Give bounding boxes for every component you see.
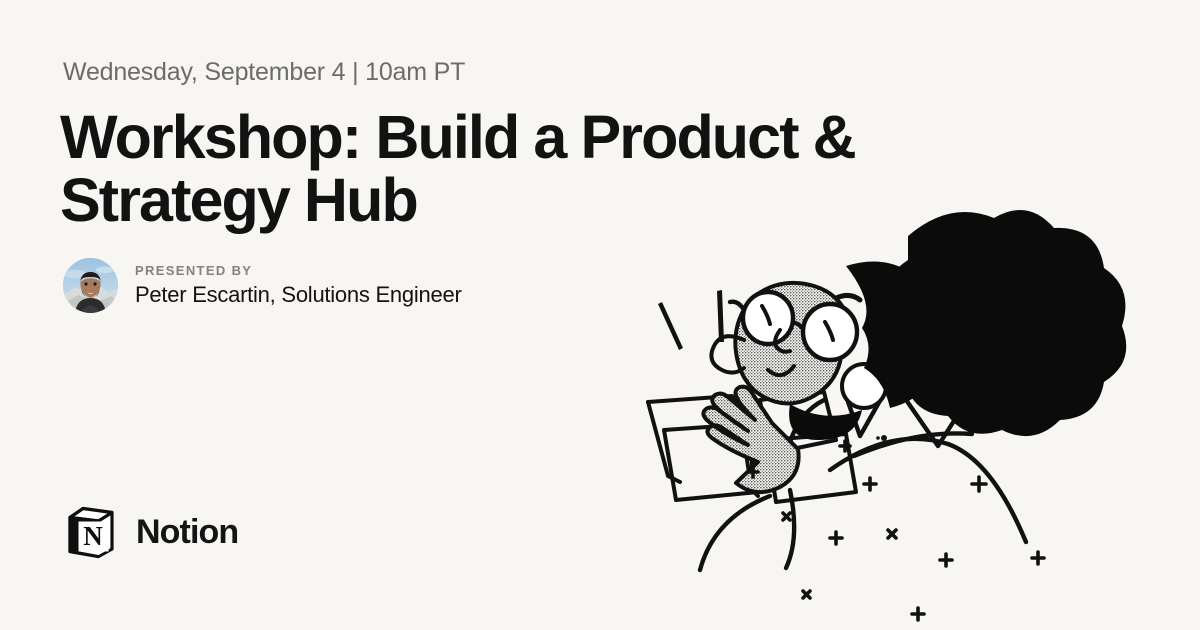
event-date: Wednesday, September 4 | 10am PT: [63, 58, 465, 87]
hair-front: [846, 262, 946, 408]
notion-wordmark: Notion: [136, 515, 238, 549]
event-card: Wednesday, September 4 | 10am PT Worksho…: [0, 0, 1200, 630]
arm-sleeve: [786, 490, 794, 568]
presenter-name: Peter Escartin, Solutions Engineer: [135, 282, 462, 307]
hair-back: [883, 210, 1127, 436]
presenter-block: PRESENTED BY Peter Escartin, Solutions E…: [63, 258, 462, 313]
sparkle-plus-pattern: [748, 435, 1044, 620]
notion-logo-icon: N: [63, 504, 119, 560]
notion-brand-lockup: N Notion: [63, 504, 238, 560]
presenter-text: PRESENTED BY Peter Escartin, Solutions E…: [135, 264, 462, 307]
page-title: Workshop: Build a Product & Strategy Hub: [60, 106, 880, 233]
text-column: Wednesday, September 4 | 10am PT Worksho…: [63, 0, 763, 630]
avatar: [63, 258, 118, 313]
presented-by-label: PRESENTED BY: [135, 264, 462, 277]
svg-text:N: N: [83, 521, 103, 551]
